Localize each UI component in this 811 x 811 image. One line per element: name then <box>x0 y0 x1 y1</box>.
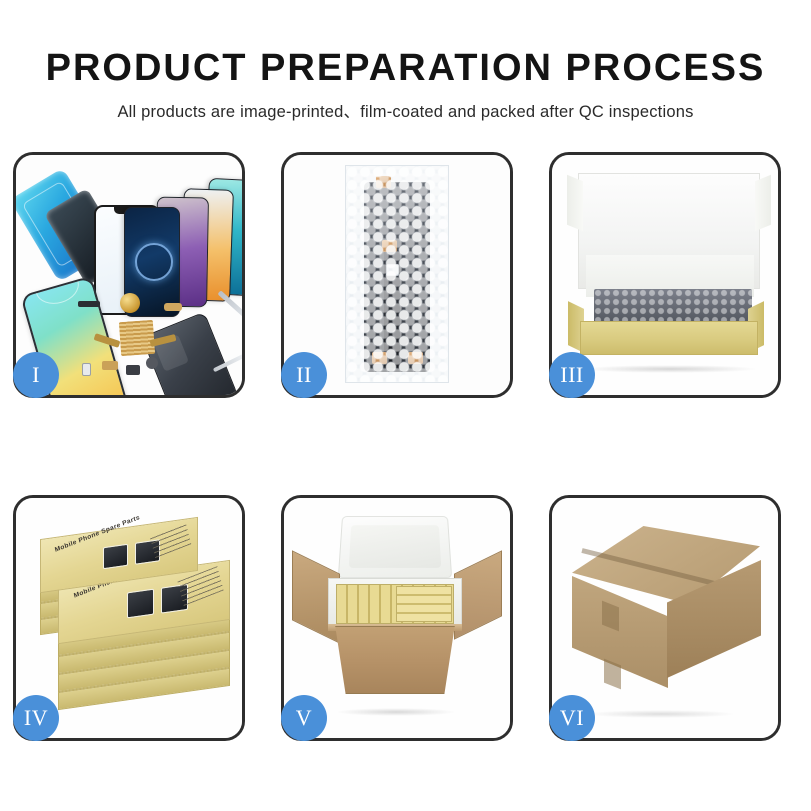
foam-lid-icon <box>338 516 452 578</box>
step-badge-2: II <box>281 352 327 398</box>
box-front-panel-icon <box>580 321 758 355</box>
box-shadow <box>582 365 758 373</box>
product-preparation-infographic: PRODUCT PREPARATION PROCESS All products… <box>0 0 811 811</box>
speaker-coil-icon <box>120 293 140 313</box>
packed-retail-boxes-secondary-icon <box>396 586 452 622</box>
carton-body-icon <box>330 626 460 694</box>
bubble-bag <box>345 165 449 383</box>
step-badge-1: I <box>13 352 59 398</box>
process-step-panel-4: Mobile Phone Spare Parts Mobile Phone Sp… <box>13 495 245 741</box>
box-art-phone-1 <box>127 589 154 618</box>
process-step-grid: I II <box>13 152 800 752</box>
camera-part-icon <box>126 365 140 375</box>
packed-contents-icon <box>594 289 752 323</box>
header: PRODUCT PREPARATION PROCESS All products… <box>0 0 811 122</box>
process-step-panel-6: VI <box>549 495 781 741</box>
step-badge-3: III <box>549 352 595 398</box>
box-stack: Mobile Phone Spare Parts Mobile Phone Sp… <box>24 518 240 724</box>
box-art-phone-1 <box>103 543 128 569</box>
carton-shadow <box>336 708 456 716</box>
connector-grid-icon <box>119 320 155 356</box>
page-title: PRODUCT PREPARATION PROCESS <box>0 46 811 90</box>
earpiece-part-icon <box>78 301 100 307</box>
process-step-panel-1: I <box>13 152 245 398</box>
phone-back-housing-icon <box>141 312 239 395</box>
bubble-texture-overlay <box>346 166 448 382</box>
process-step-panel-3: III <box>549 152 781 398</box>
step-badge-6: VI <box>549 695 595 741</box>
speaker-part-icon <box>146 357 158 369</box>
page-subtitle: All products are image-printed、film-coat… <box>0 98 811 122</box>
sim-tray-icon <box>82 363 91 376</box>
flex-part-icon <box>102 361 118 370</box>
process-step-panel-2: II <box>281 152 513 398</box>
process-step-panel-5: V <box>281 495 513 741</box>
carton-shadow <box>586 710 736 718</box>
step-badge-5: V <box>281 695 327 741</box>
connector-strip-icon <box>164 303 182 311</box>
step-badge-4: IV <box>13 695 59 741</box>
